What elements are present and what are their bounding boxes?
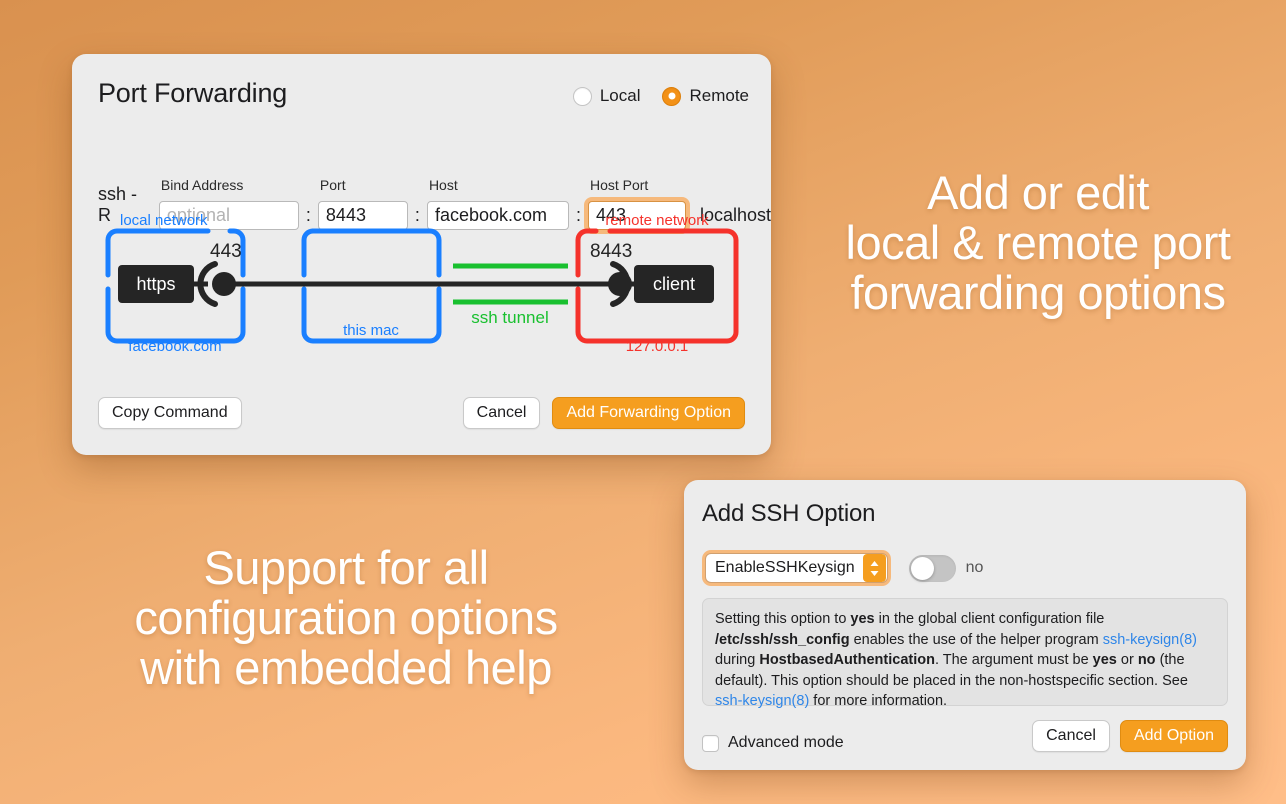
remote-port-number: 8443	[590, 241, 632, 262]
page-title: Port Forwarding	[98, 78, 287, 109]
copy-command-button[interactable]: Copy Command	[98, 397, 242, 429]
remote-network-label: remote network	[605, 212, 709, 229]
advanced-mode-checkbox[interactable]	[702, 735, 719, 752]
radio-local-dot-icon	[573, 87, 592, 106]
port-forwarding-footer-right: Cancel Add Forwarding Option	[463, 397, 745, 429]
help-segment-10: or	[1117, 652, 1138, 668]
option-select-focus-ring: EnableSSHKeysign	[702, 550, 891, 586]
host-port-label: Host Port	[590, 177, 648, 193]
option-select-value: EnableSSHKeysign	[706, 559, 863, 577]
ssh-tunnel-label: ssh tunnel	[471, 308, 549, 327]
option-help-text: Setting this option to yes in the global…	[702, 598, 1228, 706]
option-select[interactable]: EnableSSHKeysign	[705, 553, 888, 583]
port-forwarding-dialog: Port Forwarding Local Remote ssh -R Bind…	[72, 54, 771, 455]
mac-box-border-tl	[304, 231, 313, 275]
remote-host-label: 127.0.0.1	[626, 338, 689, 355]
help-segment-14: for more information.	[809, 693, 947, 709]
help-segment-3: /etc/ssh/ssh_config	[715, 632, 850, 648]
direction-radio-group: Local Remote	[573, 86, 749, 106]
radio-local[interactable]: Local	[573, 86, 641, 106]
help-segment-8: . The argument must be	[935, 652, 1093, 668]
help-segment-11: no	[1138, 652, 1156, 668]
radio-remote[interactable]: Remote	[662, 86, 749, 106]
radio-remote-dot-icon	[662, 87, 681, 106]
cancel-button[interactable]: Cancel	[463, 397, 541, 429]
client-node-label: client	[653, 274, 695, 294]
add-forwarding-option-button[interactable]: Add Forwarding Option	[552, 397, 745, 429]
option-toggle-value-label: no	[966, 559, 984, 577]
radio-remote-label: Remote	[689, 86, 749, 106]
help-segment-1: yes	[850, 611, 874, 627]
port-label: Port	[320, 177, 346, 193]
local-host-label: facebook.com	[128, 338, 221, 355]
ssh-keysign-link[interactable]: ssh-keysign(8)	[715, 693, 809, 709]
add-ssh-option-footer-right: Cancel Add Option	[1032, 720, 1228, 752]
host-label: Host	[429, 177, 458, 193]
port-forwarding-footer-left: Copy Command	[98, 397, 242, 429]
option-row: EnableSSHKeysign no	[702, 550, 983, 586]
ssh-keysign-link[interactable]: ssh-keysign(8)	[1103, 632, 1197, 648]
help-segment-0: Setting this option to	[715, 611, 850, 627]
https-node-label: https	[136, 274, 175, 294]
add-option-button[interactable]: Add Option	[1120, 720, 1228, 752]
help-segment-4: enables the use of the helper program	[850, 632, 1103, 648]
option-cancel-button[interactable]: Cancel	[1032, 720, 1110, 752]
help-segment-2: in the global client configuration file	[875, 611, 1105, 627]
chevron-updown-icon[interactable]	[863, 554, 886, 582]
add-ssh-option-dialog: Add SSH Option EnableSSHKeysign no Setti…	[684, 480, 1246, 770]
network-diagram: local network facebook.com https 443 thi…	[98, 209, 746, 359]
help-segment-7: HostbasedAuthentication	[759, 652, 935, 668]
add-ssh-option-title: Add SSH Option	[702, 500, 875, 528]
mac-box-border-top	[313, 231, 439, 275]
local-port-number: 443	[210, 241, 242, 262]
caption-support-for-all: Support for all configuration options wi…	[96, 543, 596, 692]
help-segment-6: during	[715, 652, 759, 668]
caption-add-or-edit: Add or edit local & remote port forwardi…	[818, 168, 1258, 317]
help-segment-9: yes	[1093, 652, 1117, 668]
bind-address-label: Bind Address	[161, 177, 244, 193]
mac-label: this mac	[343, 322, 399, 339]
radio-local-label: Local	[600, 86, 641, 106]
local-network-label: local network	[120, 212, 208, 229]
add-ssh-option-footer-left: Advanced mode	[702, 734, 844, 752]
advanced-mode-label: Advanced mode	[728, 734, 844, 752]
option-toggle-knob	[911, 557, 934, 580]
option-toggle[interactable]	[909, 555, 956, 582]
option-toggle-wrap: no	[909, 555, 984, 582]
